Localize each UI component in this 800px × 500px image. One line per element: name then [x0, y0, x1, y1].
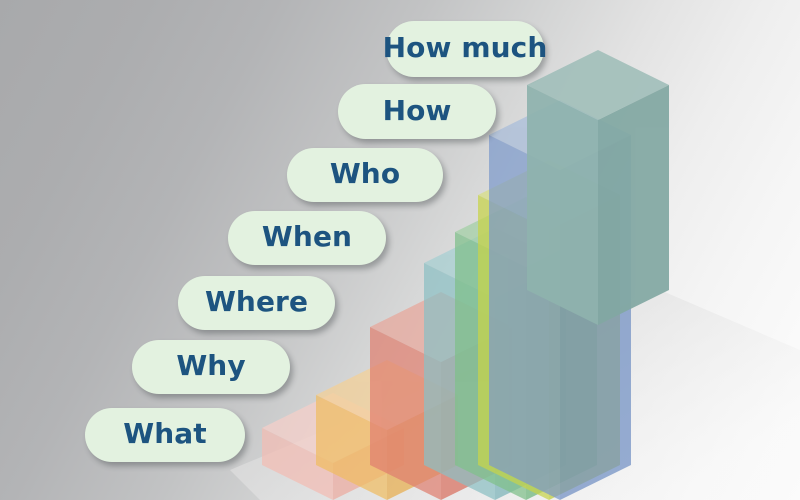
label-text-what: What: [123, 420, 207, 450]
infographic-canvas: How much How Who When Where Why What: [0, 0, 800, 500]
bar-tallest-column: [527, 50, 669, 325]
label-pill-when[interactable]: When: [228, 211, 386, 265]
label-pill-how[interactable]: How: [338, 84, 496, 139]
label-pill-where[interactable]: Where: [178, 276, 335, 330]
label-text-why: Why: [176, 352, 245, 382]
label-pill-how-much[interactable]: How much: [386, 21, 544, 77]
label-text-when: When: [262, 223, 352, 253]
label-pill-who[interactable]: Who: [287, 148, 443, 202]
label-pill-why[interactable]: Why: [132, 340, 290, 394]
label-text-where: Where: [205, 288, 308, 318]
label-text-who: Who: [330, 160, 400, 190]
label-text-how-much: How much: [383, 34, 548, 64]
label-pill-what[interactable]: What: [85, 408, 245, 462]
bar-tallest-right: [598, 85, 669, 325]
label-text-how: How: [383, 97, 452, 127]
bar-tallest-left: [527, 85, 598, 325]
